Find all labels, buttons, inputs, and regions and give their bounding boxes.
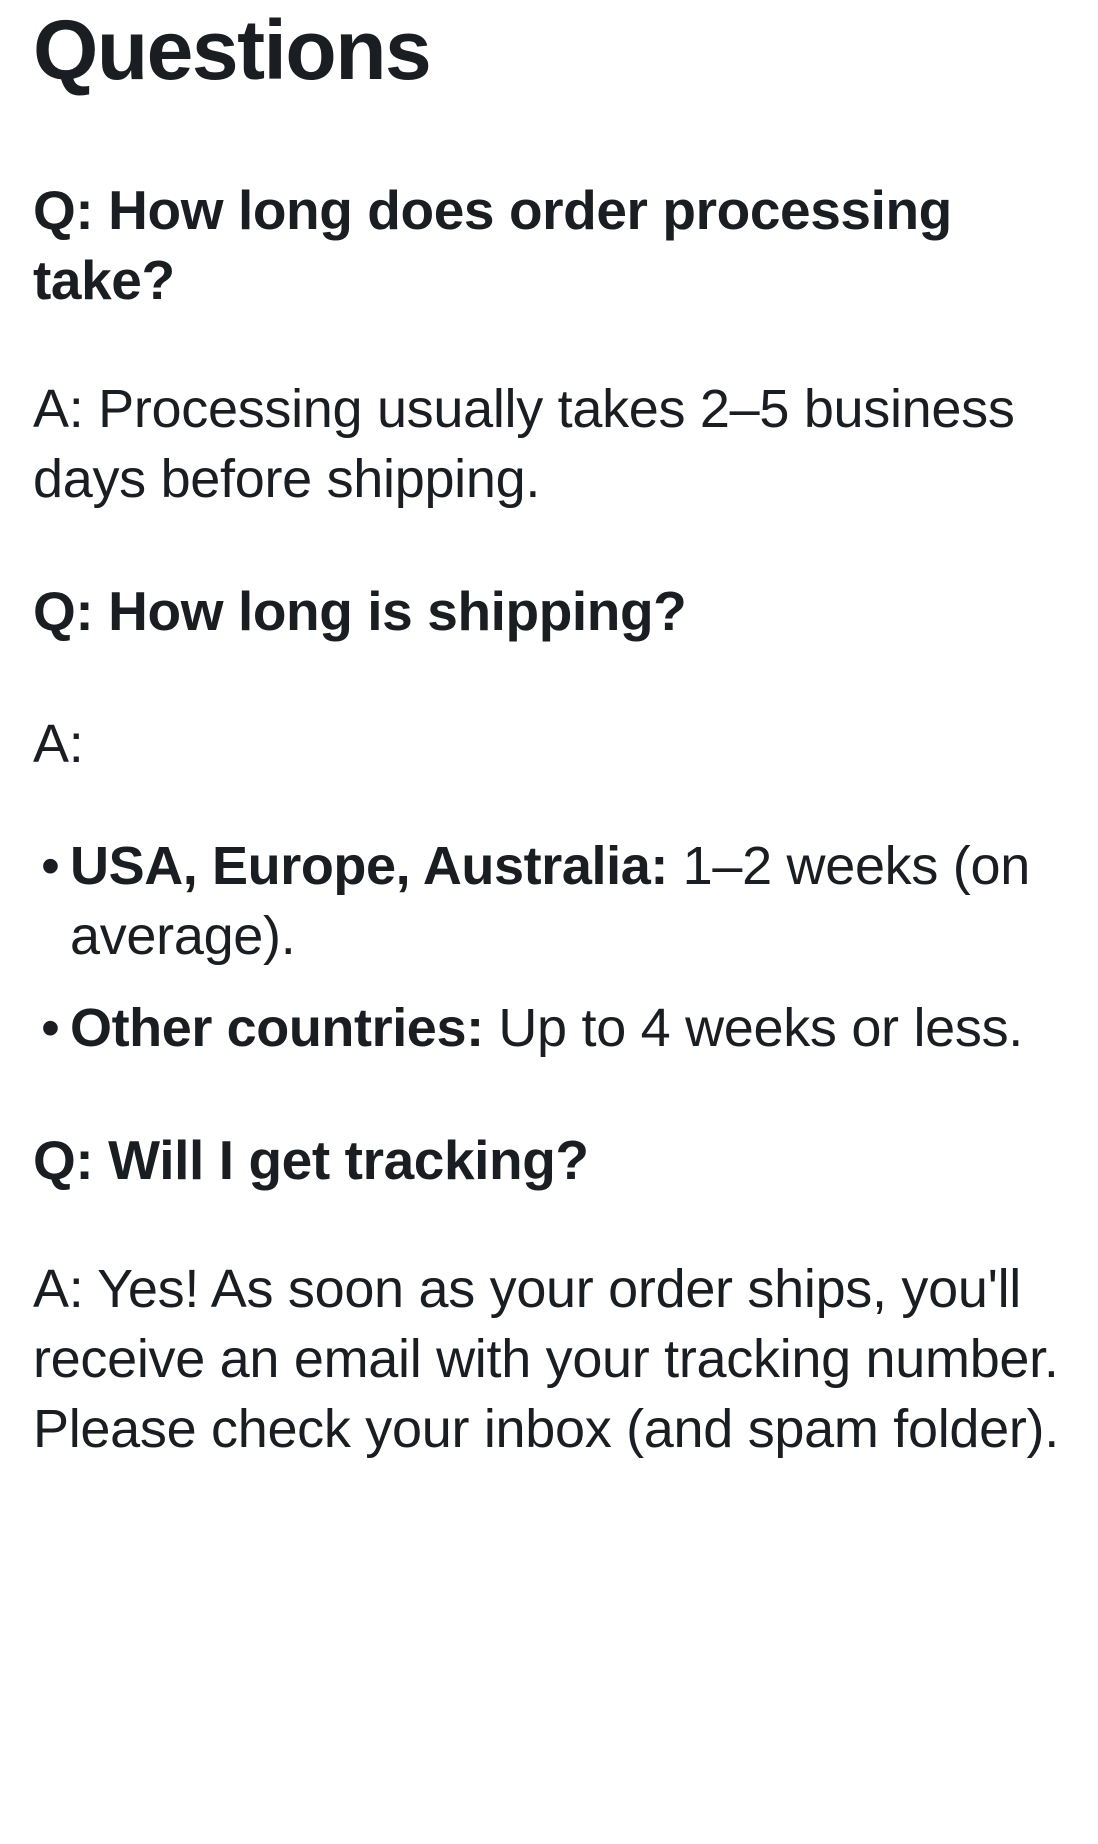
list-item-text: Up to 4 weeks or less.: [484, 998, 1023, 1058]
list-item: • USA, Europe, Australia: 1–2 weeks (on …: [33, 831, 1065, 971]
bullet-point-icon: •: [41, 993, 60, 1063]
faq-page: Questions Q: How long does order process…: [0, 0, 1098, 1844]
answer-shipping-time: A:: [33, 647, 1065, 779]
question-heading-shipping-time: Q: How long is shipping?: [33, 514, 1065, 646]
question-heading-tracking: Q: Will I get tracking?: [33, 1063, 1065, 1195]
question-heading-order-processing: Q: How long does order processing take?: [33, 92, 1065, 316]
answer-tracking: A: Yes! As soon as your order ships, you…: [33, 1196, 1065, 1465]
list-item-lead: Other countries:: [70, 998, 484, 1058]
bullet-point-icon: •: [41, 831, 60, 901]
list-item: • Other countries: Up to 4 weeks or less…: [33, 993, 1065, 1063]
answer-order-processing: A: Processing usually takes 2–5 business…: [33, 316, 1065, 514]
page-title: Questions: [33, 0, 1065, 92]
shipping-regions-list: • USA, Europe, Australia: 1–2 weeks (on …: [33, 779, 1065, 1064]
list-item-lead: USA, Europe, Australia:: [70, 836, 668, 896]
